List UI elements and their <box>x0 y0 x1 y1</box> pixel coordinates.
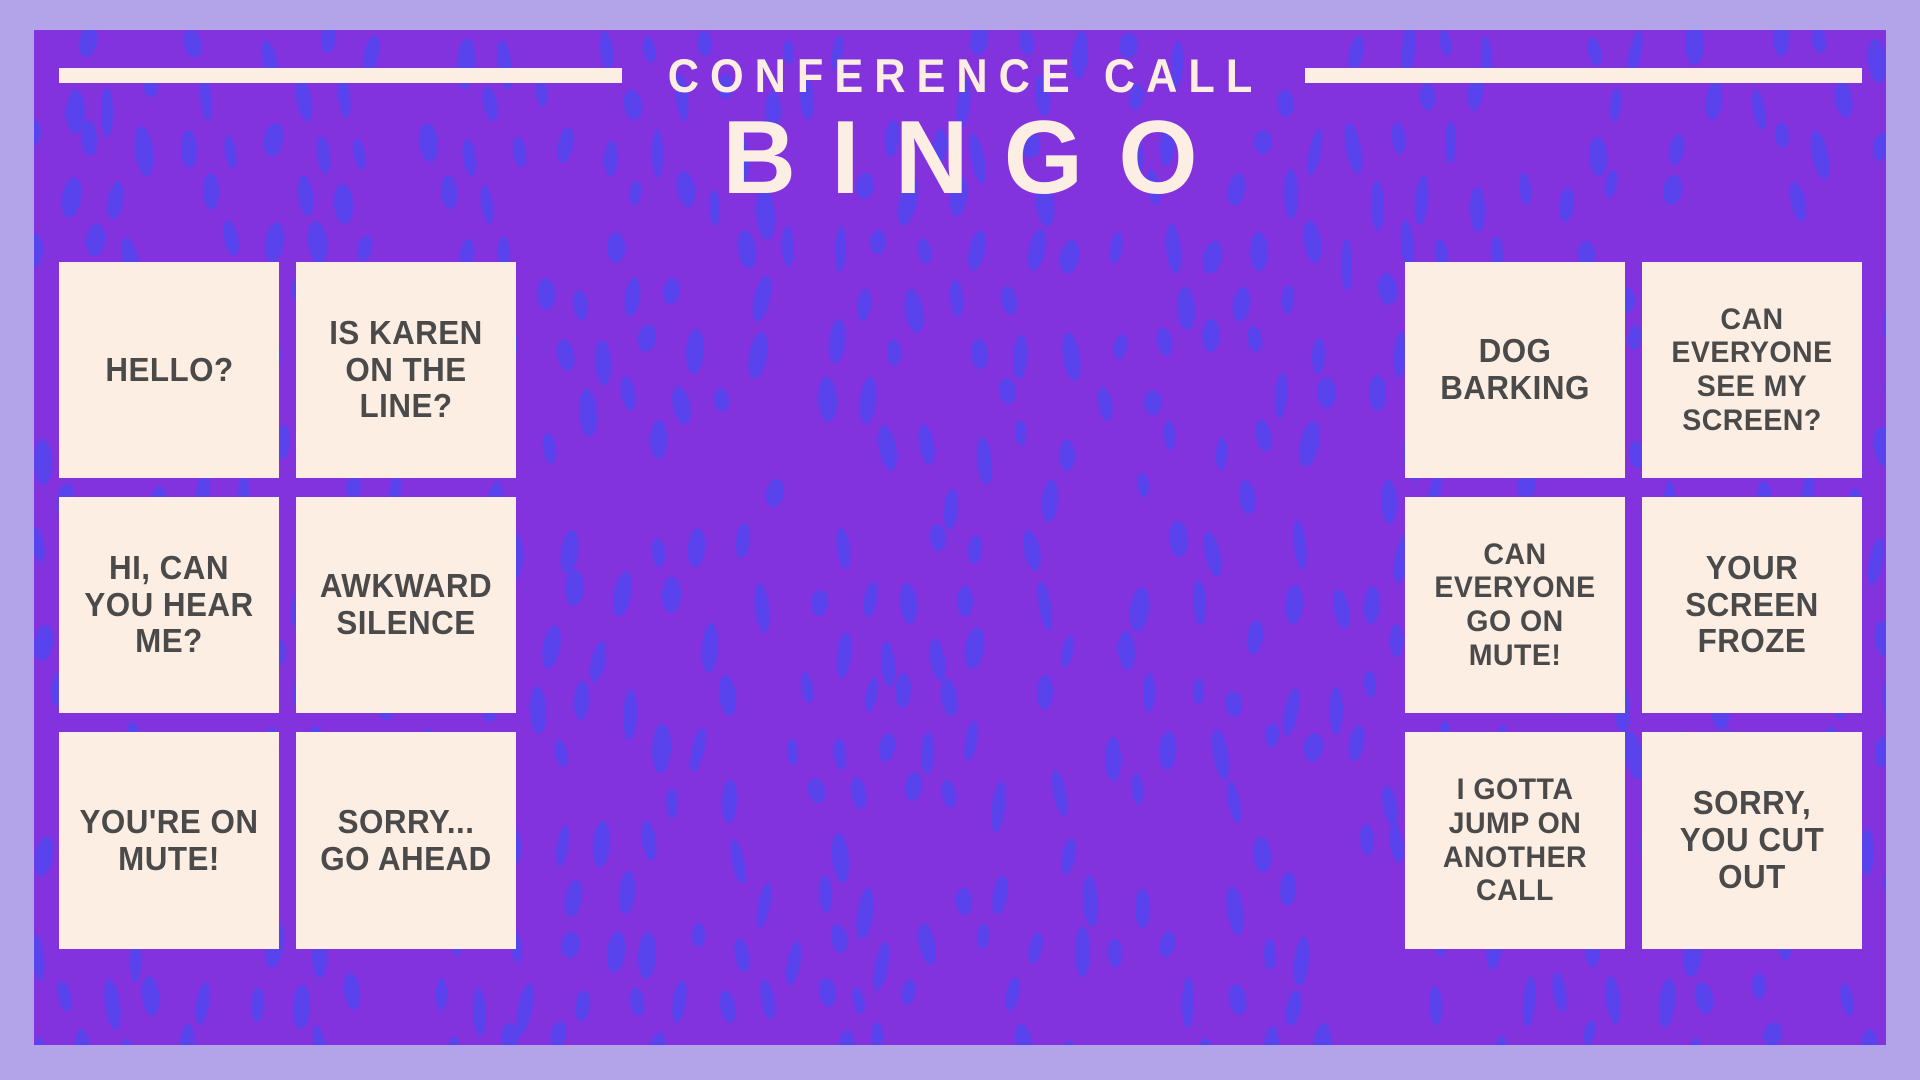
bingo-cell-label: DOG BARKING <box>1420 333 1610 407</box>
bingo-poster: CONFERENCE CALL BINGO HELLO?IS KAREN ON … <box>0 0 1920 1080</box>
bingo-cell-label: I GOTTA JUMP ON ANOTHER CALL <box>1420 773 1610 907</box>
poster-title: BINGO <box>53 102 1868 214</box>
bingo-cell[interactable]: SORRY, YOU CUT OUT <box>1642 732 1862 949</box>
bingo-cell[interactable]: HI, CAN YOU HEAR ME? <box>59 497 279 713</box>
bingo-cell[interactable]: DOG BARKING <box>1405 262 1625 478</box>
bingo-grid-right: DOG BARKINGCAN EVERYONE SEE MY SCREEN?CA… <box>1405 262 1862 949</box>
bingo-cell[interactable]: AWKWARD SILENCE <box>296 497 516 713</box>
bingo-cell-label: CAN EVERYONE GO ON MUTE! <box>1420 538 1610 672</box>
bingo-grid-left: HELLO?IS KAREN ON THE LINE?HI, CAN YOU H… <box>59 262 516 949</box>
bingo-cell[interactable]: HELLO? <box>59 262 279 478</box>
bingo-cell[interactable]: CAN EVERYONE SEE MY SCREEN? <box>1642 262 1862 478</box>
bingo-cell-label: HI, CAN YOU HEAR ME? <box>74 550 264 661</box>
bingo-cell-label: YOUR SCREEN FROZE <box>1657 550 1847 661</box>
poster-panel: CONFERENCE CALL BINGO HELLO?IS KAREN ON … <box>34 30 1886 1045</box>
bingo-cell-label: HELLO? <box>105 352 233 389</box>
bingo-cell-label: SORRY... GO AHEAD <box>311 804 501 878</box>
bingo-cell-label: IS KAREN ON THE LINE? <box>311 315 501 426</box>
bingo-cell[interactable]: SORRY... GO AHEAD <box>296 732 516 949</box>
bingo-cell[interactable]: I GOTTA JUMP ON ANOTHER CALL <box>1405 732 1625 949</box>
bingo-cell-label: YOU'RE ON MUTE! <box>74 804 264 878</box>
poster-kicker: CONFERENCE CALL <box>108 50 1812 102</box>
poster-header: CONFERENCE CALL BINGO <box>34 30 1886 230</box>
bingo-cell-label: SORRY, YOU CUT OUT <box>1657 785 1847 896</box>
bingo-cell[interactable]: CAN EVERYONE GO ON MUTE! <box>1405 497 1625 713</box>
bingo-cell[interactable]: YOU'RE ON MUTE! <box>59 732 279 949</box>
bingo-cell-label: AWKWARD SILENCE <box>311 568 501 642</box>
bingo-cell-label: CAN EVERYONE SEE MY SCREEN? <box>1657 303 1847 437</box>
bingo-cell[interactable]: IS KAREN ON THE LINE? <box>296 262 516 478</box>
bingo-cell[interactable]: YOUR SCREEN FROZE <box>1642 497 1862 713</box>
